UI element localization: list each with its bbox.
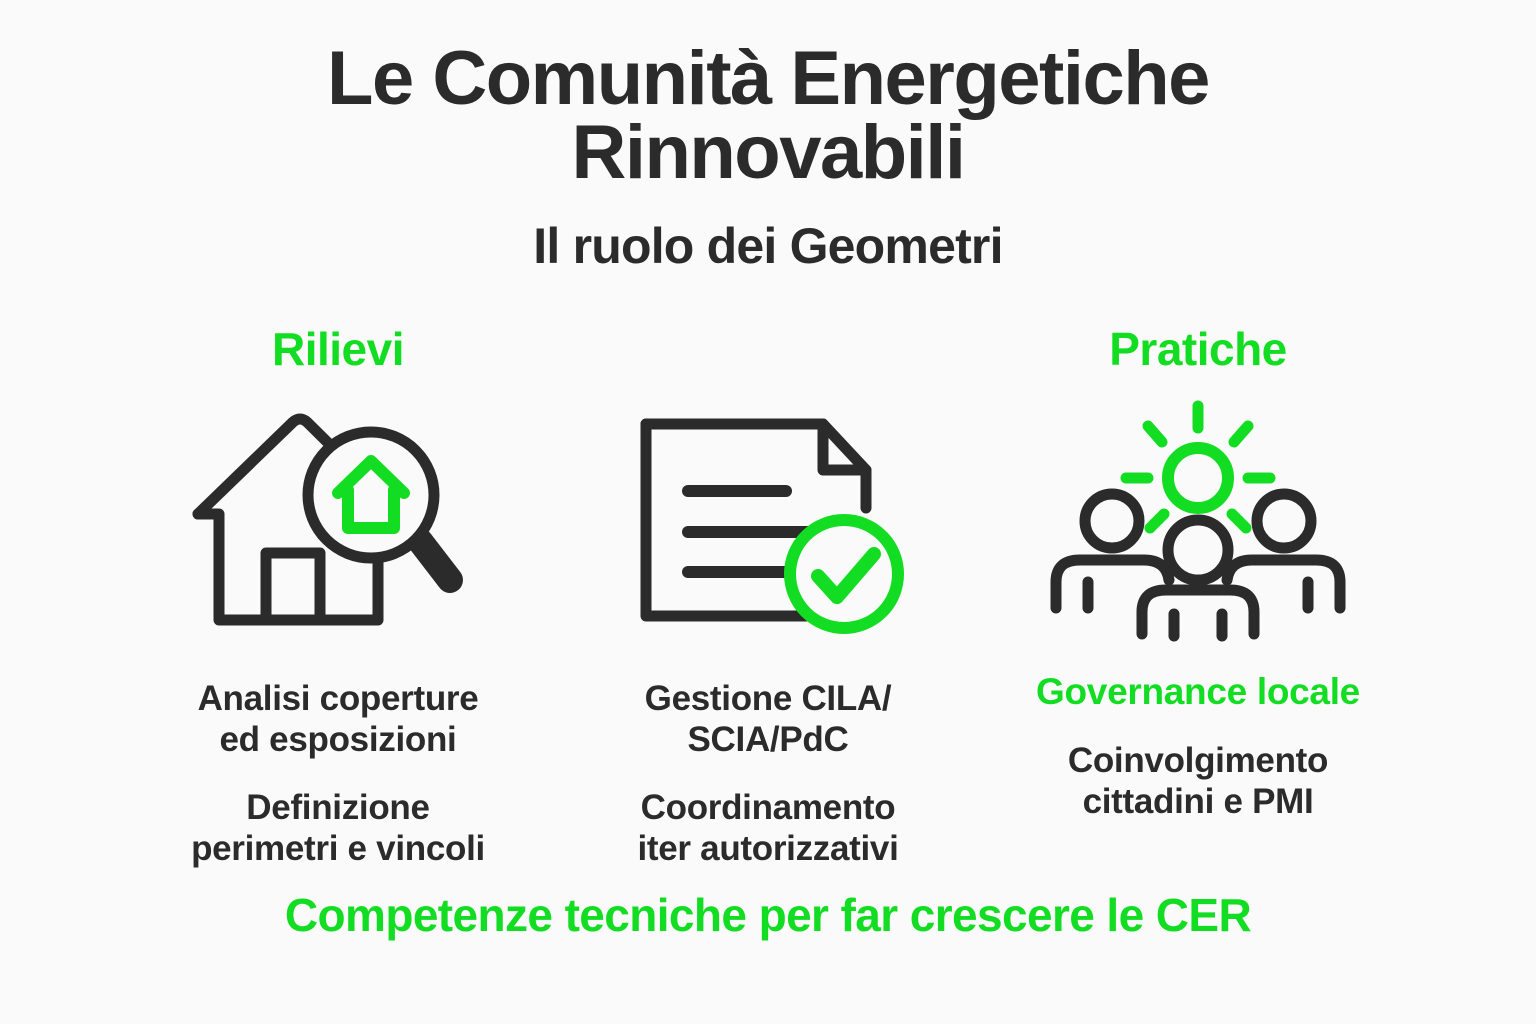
title-line-1: Le Comunità Energetiche	[208, 42, 1328, 116]
column-heading-pratiche: Pratiche	[1109, 326, 1287, 384]
column-2-primary-text: Gestione CILA/ SCIA/PdC	[645, 678, 892, 761]
column-2-secondary-text: Coordinamento iter autorizzativi	[637, 787, 898, 870]
column-1-primary-line-1: Analisi coperture	[198, 678, 479, 719]
page-title: Le Comunità Energetiche Rinnovabili	[208, 42, 1328, 191]
header-block: Le Comunità Energetiche Rinnovabili Il r…	[0, 42, 1536, 275]
column-pratiche: Pratiche	[983, 326, 1413, 822]
house-magnifier-icon	[188, 398, 488, 648]
column-2-primary-line-2: SCIA/PdC	[645, 719, 892, 760]
column-rilievi: Rilievi Analisi cop	[123, 326, 553, 869]
column-2-secondary-line-2: iter autorizzativi	[637, 828, 898, 869]
footer-tagline: Competenze tecniche per far crescere le …	[0, 888, 1536, 942]
document-check-icon	[618, 398, 918, 648]
column-3-secondary-line-2: cittadini e PMI	[1068, 781, 1328, 822]
column-2-primary-line-1: Gestione CILA/	[645, 678, 892, 719]
people-sun-icon	[1038, 394, 1358, 644]
column-1-primary-line-2: ed esposizioni	[198, 719, 479, 760]
column-3-secondary-line-1: Coinvolgimento	[1068, 740, 1328, 781]
title-line-2: Rinnovabili	[208, 116, 1328, 190]
columns-container: Rilievi Analisi cop	[0, 326, 1536, 846]
column-3-secondary-text: Coinvolgimento cittadini e PMI	[1068, 740, 1328, 823]
column-2-secondary-line-1: Coordinamento	[637, 787, 898, 828]
column-3-primary-line-1: Governance locale	[1036, 670, 1360, 714]
column-1-secondary-line-2: perimetri e vincoli	[191, 828, 485, 869]
column-1-secondary-line-1: Definizione	[191, 787, 485, 828]
infographic-poster: Le Comunità Energetiche Rinnovabili Il r…	[0, 0, 1536, 1024]
column-pratiche-documenti: Gestione CILA/ SCIA/PdC Coordinamento it…	[553, 326, 983, 869]
page-subtitle: Il ruolo dei Geometri	[0, 217, 1536, 275]
column-1-secondary-text: Definizione perimetri e vincoli	[191, 787, 485, 870]
column-heading-rilievi: Rilievi	[272, 326, 404, 384]
column-3-primary-text: Governance locale	[1036, 670, 1360, 714]
column-1-primary-text: Analisi coperture ed esposizioni	[198, 678, 479, 761]
